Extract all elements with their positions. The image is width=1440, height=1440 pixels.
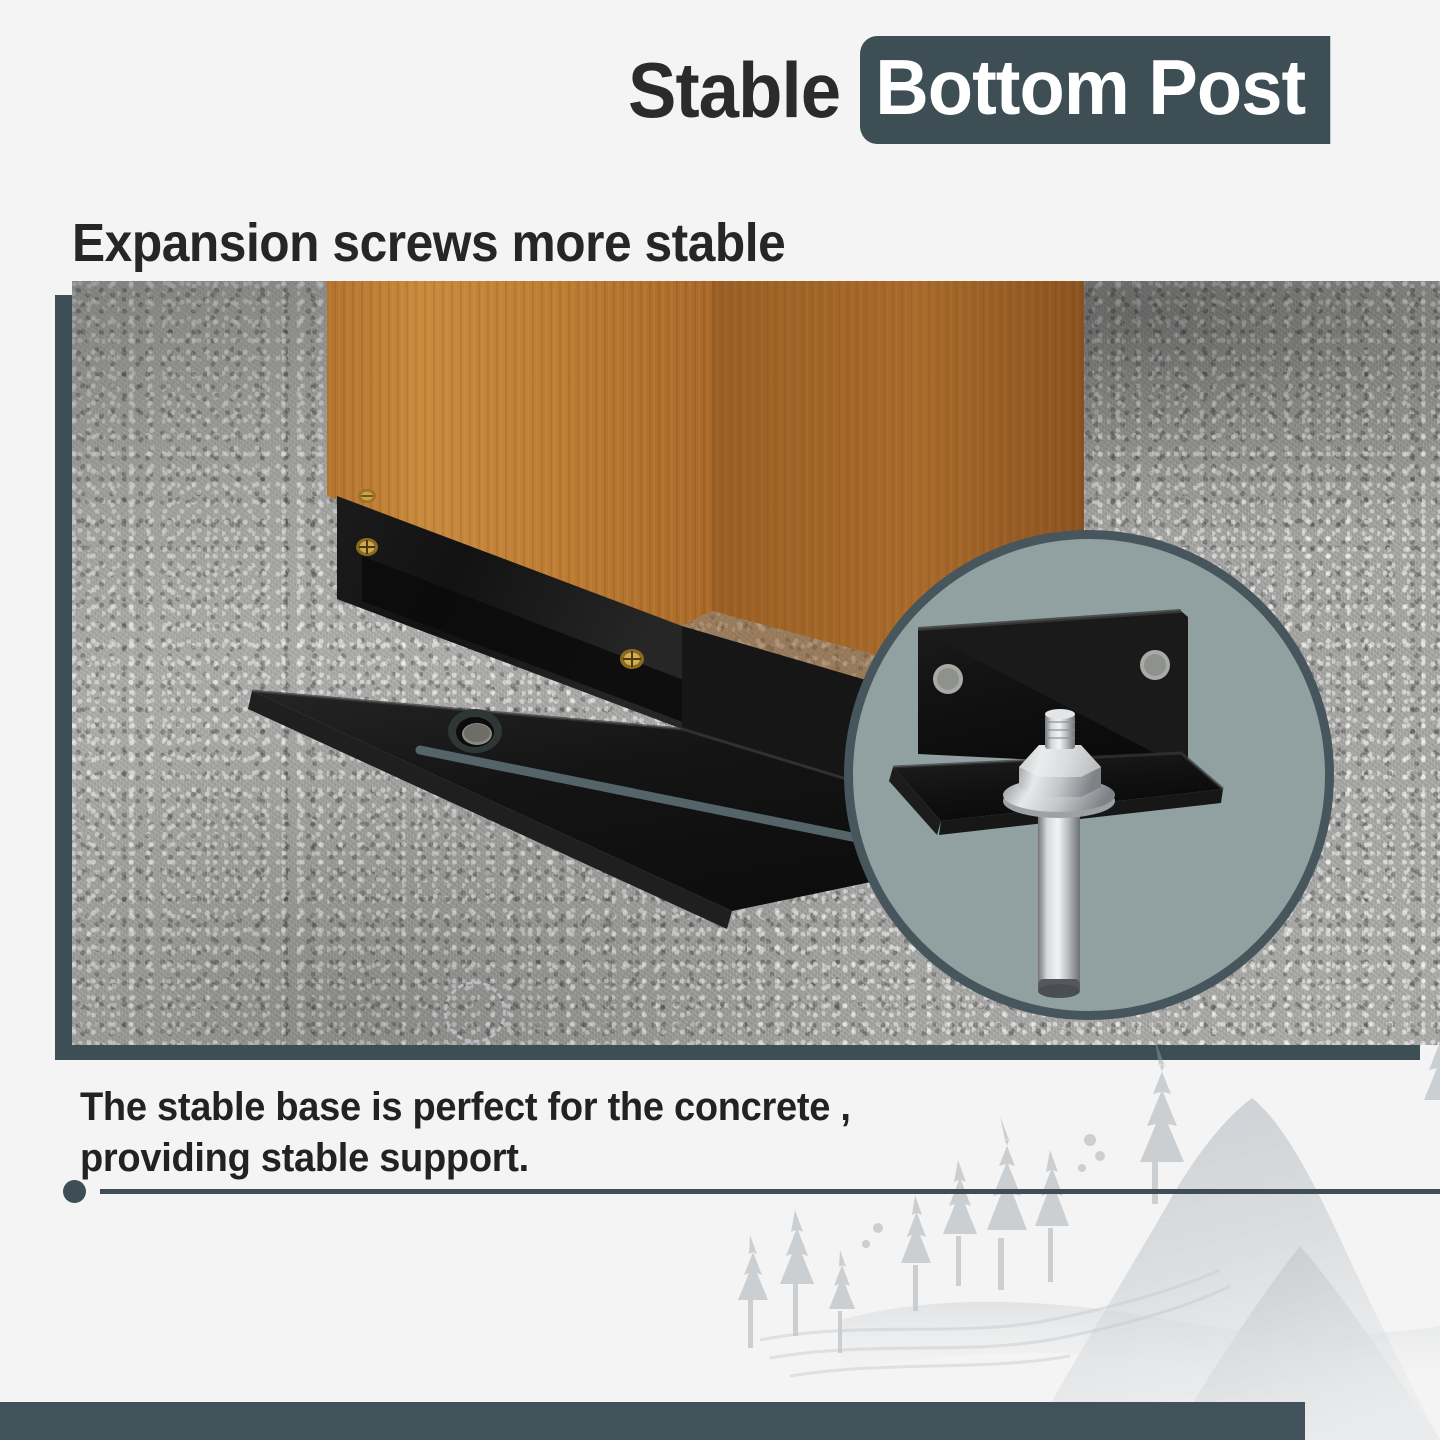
caption-line-2: providing stable support.	[80, 1133, 935, 1184]
page-title-plain: Stable	[628, 51, 840, 129]
magnifier-callout-circle	[844, 530, 1334, 1020]
caption-bullet-dot	[63, 1180, 86, 1203]
caption-line-1: The stable base is perfect for the concr…	[80, 1082, 935, 1133]
anchor-hole	[448, 709, 502, 753]
anchor-hole-marker-dashed-circle	[444, 981, 506, 1043]
section-subheading: Expansion screws more stable	[72, 212, 785, 274]
caption-block: The stable base is perfect for the concr…	[80, 1082, 935, 1184]
magnifier-content	[853, 539, 1325, 1011]
product-photo	[72, 281, 1440, 1045]
page-title-highlight-badge: Bottom Post	[860, 36, 1330, 144]
header-banner: Stable Bottom Post	[0, 0, 1440, 170]
bottom-accent-bar	[0, 1402, 1305, 1440]
page-title: Stable Bottom Post	[628, 36, 1355, 144]
caption-horizontal-rule	[100, 1189, 1440, 1194]
